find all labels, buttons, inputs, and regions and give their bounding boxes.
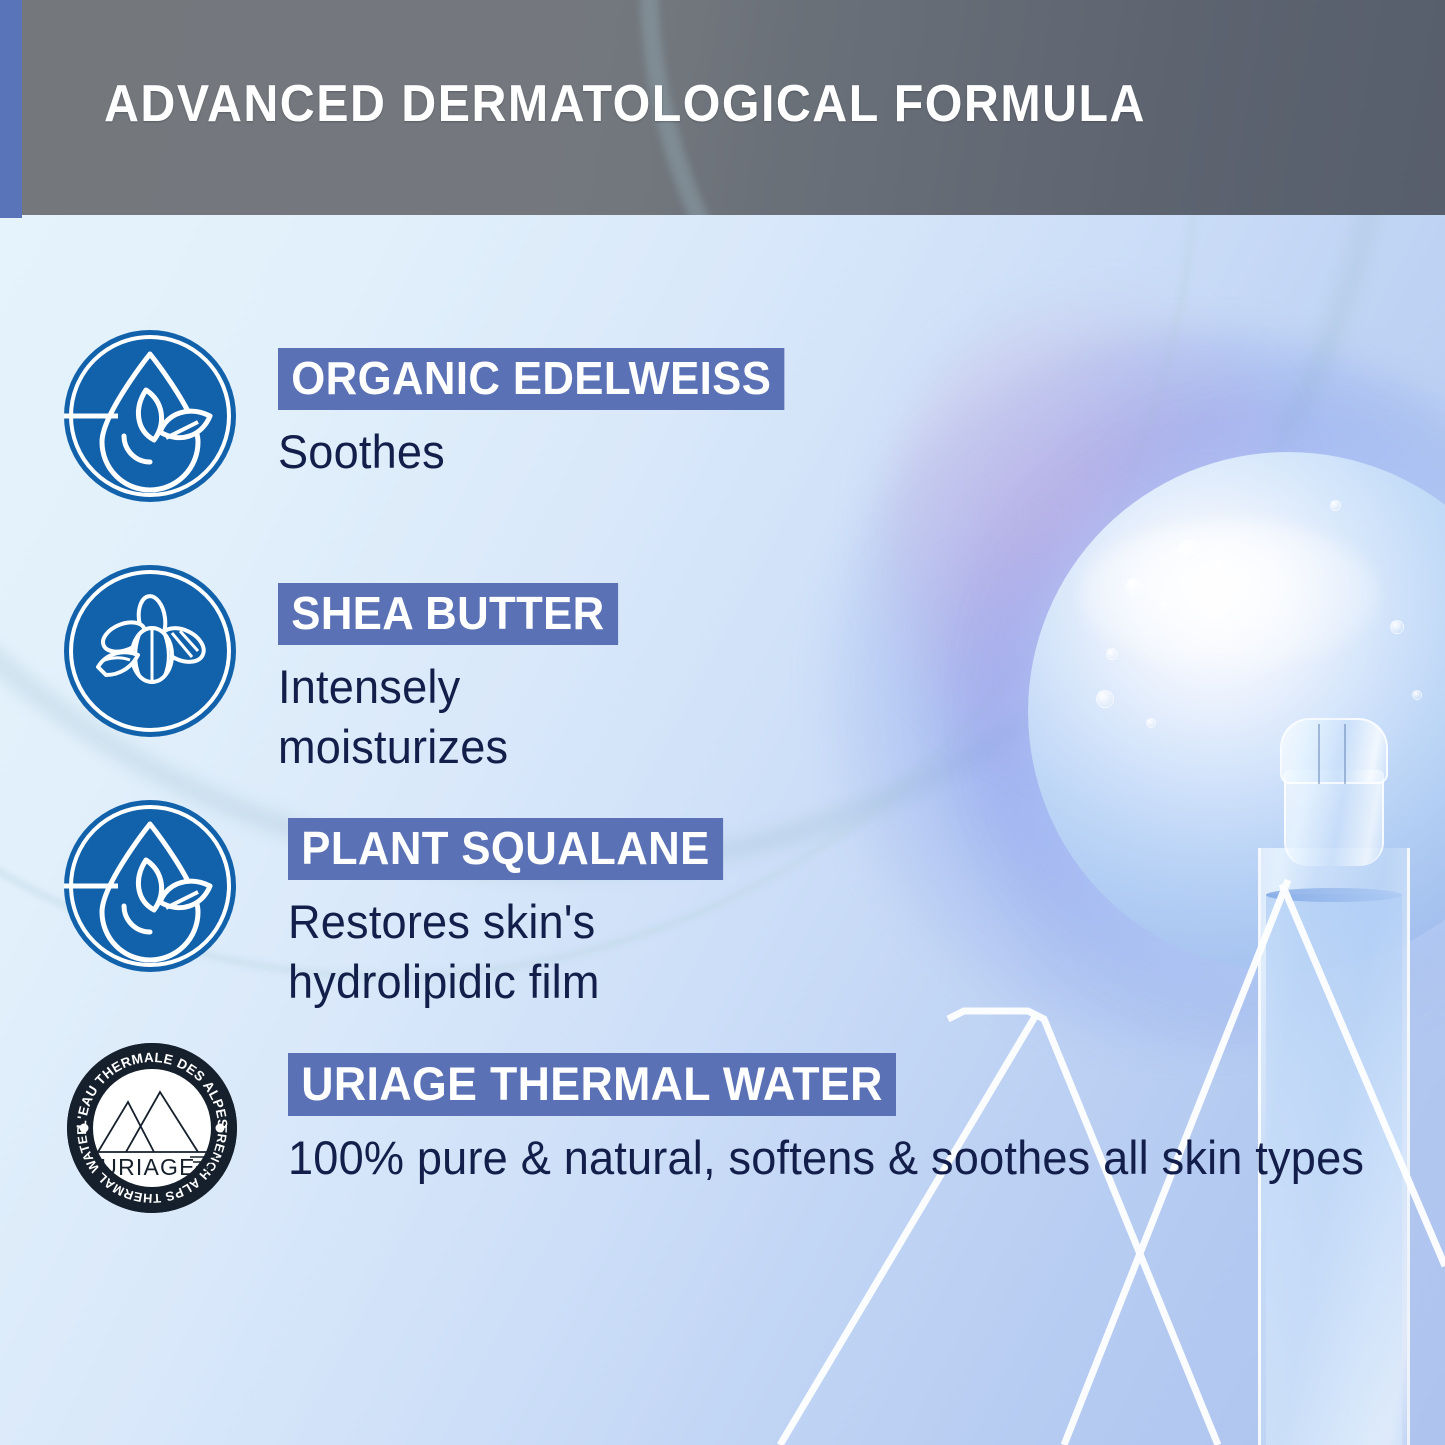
bubble (1214, 560, 1227, 573)
bubble (1126, 578, 1142, 594)
feature-description: 100% pure & natural, softens & soothes a… (288, 1128, 1440, 1188)
feature-title: PLANT SQUALANE (288, 818, 723, 880)
feature-description: Soothes (278, 422, 790, 482)
product-infographic: ADVANCED DERMATOLOGICAL FORMULA ORGANIC … (0, 0, 1445, 1445)
seal-brand: URIAGE (100, 1154, 195, 1180)
feature-description: Intensely moisturizes (278, 657, 622, 777)
shea-nuts-icon (62, 563, 238, 739)
bubble (1178, 540, 1200, 562)
feature-description: Restores skin's hydrolipidic film (288, 892, 728, 1012)
bubble (1106, 648, 1118, 660)
bubble (1160, 600, 1169, 609)
bubble (1146, 718, 1156, 728)
bubble (1330, 500, 1341, 511)
header-accent-bar (0, 0, 22, 218)
feature-text-block: ORGANIC EDELWEISS Soothes (278, 348, 811, 482)
water-drop-leaf-icon (62, 798, 238, 974)
feature-text-block: SHEA BUTTER Intensely moisturizes (278, 583, 636, 777)
feature-text-block: URIAGE THERMAL WATER 100% pure & natural… (288, 1053, 1445, 1188)
feature-title: SHEA BUTTER (278, 583, 618, 645)
ampoule-ridge (1344, 724, 1346, 784)
ampoule-ridge (1318, 724, 1320, 784)
gel-sphere-highlight (1080, 520, 1380, 670)
ampoule-neck (1284, 770, 1384, 866)
feature-title: URIAGE THERMAL WATER (288, 1053, 896, 1116)
feature-title: ORGANIC EDELWEISS (278, 348, 785, 410)
bubble (1390, 620, 1404, 634)
ampoule-head (1280, 718, 1388, 784)
ampoule-liquid-surface (1266, 888, 1402, 902)
feature-text-block: PLANT SQUALANE Restores skin's hydrolipi… (288, 818, 746, 1012)
bubble (1412, 690, 1422, 700)
page-title: ADVANCED DERMATOLOGICAL FORMULA (104, 74, 1146, 134)
water-drop-leaf-icon (62, 328, 238, 504)
bubble (1096, 690, 1114, 708)
uriage-thermal-seal-icon: L'EAU THERMALE DES ALPES FRENCH ALPS THE… (64, 1040, 240, 1216)
